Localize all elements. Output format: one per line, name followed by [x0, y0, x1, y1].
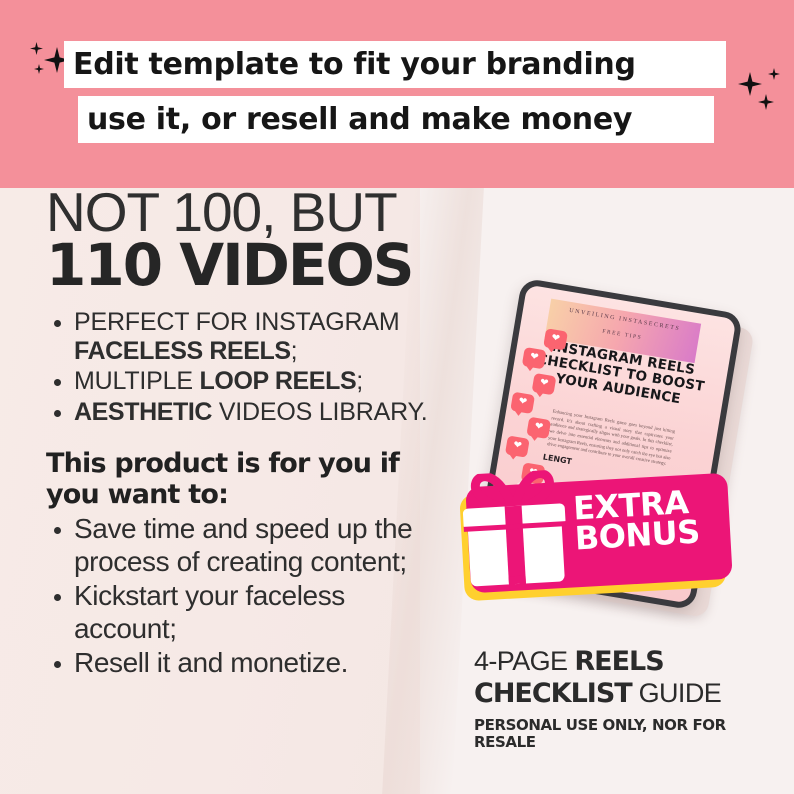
- sparkle-icon: [738, 72, 762, 96]
- header-band: Edit template to fit your branding use i…: [0, 0, 794, 188]
- plain-text: 4-PAGE: [474, 646, 574, 676]
- benefit-list: Save time and speed up the process of cr…: [46, 513, 476, 679]
- plain-text: ;: [291, 337, 298, 365]
- benefit-list-item: Save time and speed up the process of cr…: [46, 513, 446, 578]
- emphasis-text: LOOP REELS: [200, 367, 357, 395]
- emphasis-text: FACELESS REELS: [74, 337, 291, 365]
- feature-list: PERFECT FOR INSTAGRAM FACELESS REELS;MUL…: [46, 308, 476, 427]
- gift-box-icon: [457, 469, 573, 593]
- caption-line1: 4-PAGE REELS CHECKLIST GUIDE: [474, 646, 786, 709]
- emphasis-text: AESTHETIC: [74, 398, 212, 426]
- heart-like-icon: ❤: [522, 347, 547, 369]
- plain-text: GUIDE: [632, 678, 721, 708]
- caption-line2: PERSONAL USE ONLY, NOR FOR RESALE: [474, 717, 786, 751]
- sparkle-icon: [758, 94, 774, 110]
- plain-text: VIDEOS LIBRARY.: [212, 398, 427, 426]
- feature-list-item: PERFECT FOR INSTAGRAM FACELESS REELS;: [46, 308, 476, 367]
- sparkle-icon: [34, 64, 44, 74]
- extra-bonus-badge: EXTRA BONUS: [452, 462, 752, 622]
- plain-text: ;: [356, 367, 363, 395]
- headline-box-line1: Edit template to fit your branding: [64, 41, 726, 88]
- heart-like-icon: ❤: [510, 392, 535, 414]
- headline-main: 110 VIDEOS: [46, 236, 476, 294]
- plain-text: PERFECT FOR INSTAGRAM: [74, 308, 399, 336]
- left-content-column: NOT 100, BUT 110 VIDEOS PERFECT FOR INST…: [46, 186, 476, 682]
- badge-line2: BONUS: [574, 517, 700, 554]
- offer-subheading: This product is for you if you want to:: [46, 449, 441, 511]
- heart-like-icon: ❤: [543, 328, 568, 350]
- sparkle-icon: [768, 68, 780, 80]
- heart-like-icon: ❤: [532, 373, 557, 395]
- heart-like-icon: ❤: [505, 435, 530, 457]
- bottom-caption: 4-PAGE REELS CHECKLIST GUIDE PERSONAL US…: [474, 646, 786, 751]
- feature-list-item: AESTHETIC VIDEOS LIBRARY.: [46, 398, 476, 427]
- badge-text: EXTRA BONUS: [572, 487, 700, 555]
- product-graphic-canvas: Edit template to fit your branding use i…: [0, 0, 794, 794]
- sparkle-icon: [30, 42, 43, 55]
- headline-text-line1: Edit template to fit your branding: [73, 47, 636, 82]
- headline-box-line2: use it, or resell and make money: [78, 96, 714, 143]
- plain-text: MULTIPLE: [74, 367, 200, 395]
- headline-text-line2: use it, or resell and make money: [87, 102, 632, 137]
- benefit-list-item: Resell it and monetize.: [46, 647, 446, 679]
- heart-like-icon: ❤: [526, 417, 551, 439]
- benefit-list-item: Kickstart your faceless account;: [46, 580, 446, 645]
- feature-list-item: MULTIPLE LOOP REELS;: [46, 367, 476, 396]
